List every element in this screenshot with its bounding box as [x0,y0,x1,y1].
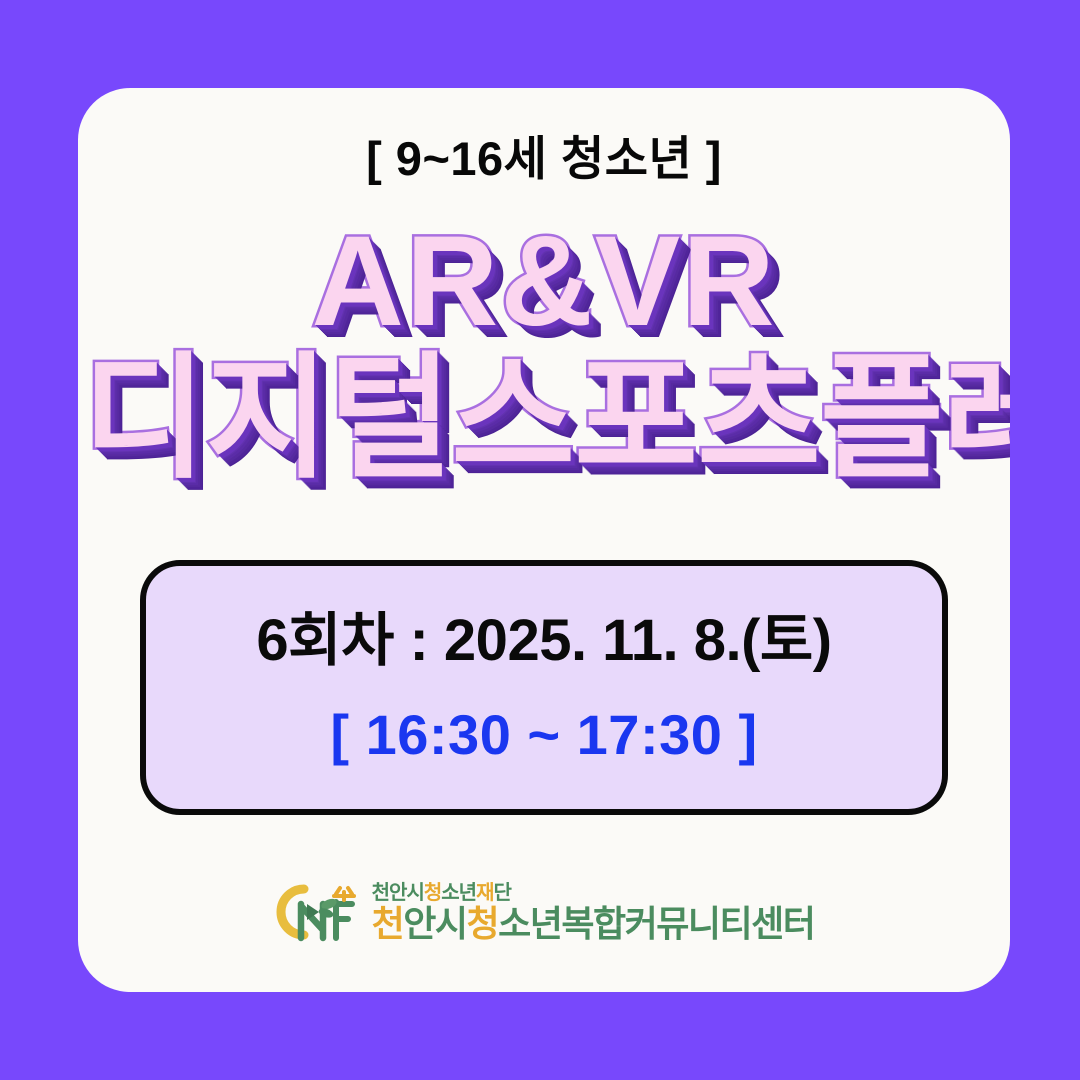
logo-sub-seg-2: 청 [424,882,441,904]
logo-sub-seg-0: 천 [372,882,389,904]
logo-main-seg-1: 안시 [403,903,466,944]
session-date-text: 6회차 : 2025. 11. 8.(토) [256,611,831,672]
session-time-text: [ 16:30 ~ 17:30 ] [330,706,757,765]
title-line-ar-vr: AR&VR [78,218,1010,346]
poster-card: [ 9~16세 청소년 ] AR&VR 디지털스포츠플레이 6회차 : 2025… [78,88,1010,992]
logo-main-seg-3: 소년복합커뮤니티센터 [498,903,814,944]
age-range-label: [ 9~16세 청소년 ] [78,120,1010,189]
logo-main-seg-0: 천 [372,903,404,944]
logo-sub-seg-4: 재 [476,882,493,904]
organization-logo: 천안시청소년재단 천안시청소년복합커뮤니티센터 [78,880,1010,944]
logo-sub-seg-1: 안시 [389,882,424,904]
poster-title: AR&VR 디지털스포츠플레이 [78,218,1010,486]
title-line-digital-sports-play: 디지털스포츠플레이 [83,350,1006,486]
logo-sub-seg-5: 단 [493,882,510,904]
logo-wordmark: 천안시청소년재단 천안시청소년복합커뮤니티센터 [372,883,815,942]
logo-foundation-name: 천안시청소년재단 [372,883,815,903]
logo-center-name: 천안시청소년복합커뮤니티센터 [372,906,815,942]
logo-sub-seg-3: 소년 [441,882,476,904]
logo-main-seg-2: 청 [467,903,499,944]
poster-canvas: [ 9~16세 청소년 ] AR&VR 디지털스포츠플레이 6회차 : 2025… [0,0,1080,1080]
cheonan-youth-foundation-logo-mark [274,880,358,944]
session-info-box: 6회차 : 2025. 11. 8.(토) [ 16:30 ~ 17:30 ] [140,560,948,815]
